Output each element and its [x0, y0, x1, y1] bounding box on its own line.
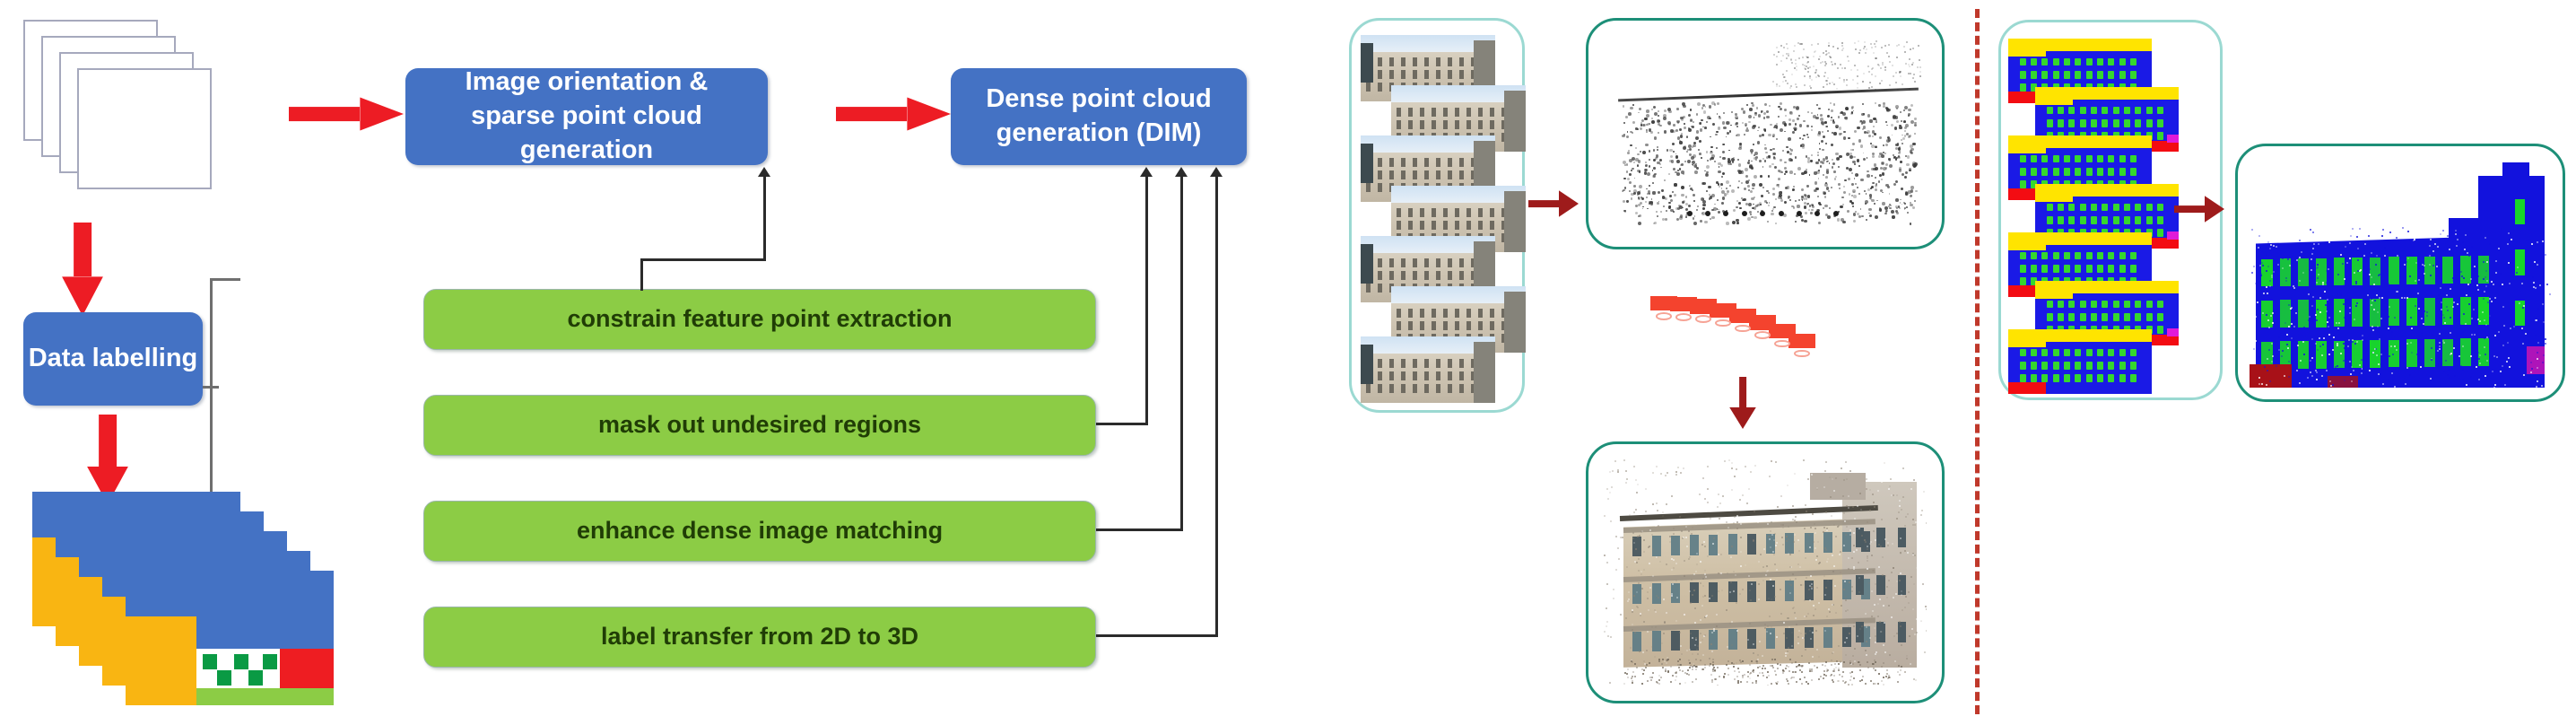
cloud-point: [1788, 196, 1791, 199]
cloud-point: [1634, 178, 1636, 179]
cloud-point: [1692, 681, 1693, 683]
cloud-point: [2380, 318, 2382, 319]
cloud-point: [1908, 602, 1910, 604]
cloud-point: [2415, 262, 2417, 264]
cloud-point: [2460, 365, 2462, 367]
cloud-point: [1921, 510, 1923, 511]
cloud-point: [1729, 505, 1731, 507]
cloud-point: [1638, 197, 1640, 198]
cloud-point: [1738, 202, 1741, 205]
cloud-point: [1889, 485, 1891, 487]
cloud-point: [2288, 304, 2290, 306]
cloud-point: [2325, 304, 2327, 306]
cloud-point: [2258, 356, 2260, 358]
cloud-point: [2253, 266, 2255, 267]
cloud-point: [1706, 121, 1708, 123]
cloud-point: [1774, 166, 1777, 169]
cloud-point: [1869, 119, 1872, 122]
cloud-point: [2264, 366, 2266, 368]
process-sfm-box[interactable]: Image orientation & sparse point cloud g…: [405, 68, 768, 165]
cloud-point: [1806, 66, 1807, 67]
cloud-point: [1625, 470, 1627, 472]
cloud-point: [1805, 504, 1806, 506]
cloud-point: [1882, 556, 1884, 558]
mask-class-window: [2124, 107, 2130, 115]
cloud-point: [2356, 302, 2358, 304]
cloud-point: [1645, 488, 1647, 490]
cloud-point: [2371, 276, 2372, 278]
photo-dark-edge: [1361, 144, 1373, 183]
cloud-point: [1768, 175, 1771, 178]
cloud-point: [1656, 502, 1658, 504]
mask-class-window: [2130, 374, 2137, 382]
cloud-point: [1815, 50, 1816, 52]
cloud-point: [2338, 245, 2340, 247]
cloud-point: [2263, 293, 2265, 294]
cloud-point: [1858, 193, 1860, 195]
cloud-point: [1872, 155, 1875, 158]
cloud-point: [1802, 57, 1804, 58]
cloud-point: [1747, 639, 1749, 641]
cloud-point: [1816, 667, 1818, 668]
cloud-point: [1776, 56, 1778, 57]
class-region-window: [234, 654, 248, 669]
cloud-point: [1857, 159, 1859, 162]
cloud-point: [1661, 189, 1663, 191]
cloud-point: [1753, 540, 1754, 542]
cloud-point: [1815, 71, 1817, 73]
cloud-point: [2287, 258, 2289, 260]
cloud-point: [2468, 303, 2470, 305]
cloud-point: [1638, 215, 1640, 217]
cloud-point: [1784, 109, 1787, 111]
cloud-point: [1866, 48, 1867, 50]
cloud-point: [2485, 375, 2486, 377]
cloud-point: [1867, 568, 1868, 570]
cloud-point: [1824, 665, 1826, 667]
cloud-point: [2407, 231, 2409, 232]
cloud-point: [1644, 169, 1647, 171]
cloud-point: [1902, 173, 1904, 176]
cloud-point: [2486, 360, 2488, 362]
cloud-window: [1652, 631, 1661, 651]
cloud-point: [2337, 365, 2338, 367]
cloud-point: [1726, 222, 1729, 225]
cloud-point: [2511, 349, 2513, 351]
cloud-point: [1679, 669, 1681, 671]
cloud-point: [1830, 102, 1832, 104]
cloud-point: [2424, 273, 2425, 275]
mask-class-window: [2108, 265, 2114, 273]
cloud-point: [1902, 137, 1905, 140]
cloud-point: [1685, 196, 1688, 198]
cloud-point: [1776, 636, 1778, 638]
cloud-point: [1652, 503, 1654, 505]
option-label-transfer-2d-3d[interactable]: label transfer from 2D to 3D: [423, 607, 1096, 668]
cloud-point: [1632, 104, 1634, 106]
mask-class-window: [2097, 155, 2103, 163]
cloud-point: [1679, 659, 1681, 660]
cloud-point: [1841, 67, 1843, 69]
cloud-point: [2452, 277, 2454, 279]
cloud-point: [2292, 386, 2293, 388]
cloud-point: [1817, 74, 1819, 76]
cloud-point: [1803, 135, 1805, 136]
cloud-point: [2439, 333, 2441, 335]
cloud-point: [2345, 246, 2346, 248]
cloud-point: [2496, 356, 2498, 358]
cloud-point: [2468, 255, 2470, 257]
cloud-point: [1639, 185, 1642, 188]
cloud-point: [1843, 186, 1845, 188]
cloud-point: [1845, 117, 1849, 120]
cloud-point: [1796, 473, 1797, 475]
cloud-point: [1878, 544, 1880, 546]
cloud-point: [2337, 293, 2338, 295]
cloud-point: [2361, 359, 2363, 361]
cloud-point: [1819, 143, 1821, 144]
frustum-lens: [1794, 350, 1810, 358]
cloud-point: [1780, 45, 1782, 47]
cloud-point: [1926, 608, 1927, 610]
cloud-point: [1866, 488, 1867, 490]
cloud-point: [2322, 282, 2324, 284]
cloud-point: [2485, 354, 2486, 355]
cloud-point: [1749, 108, 1753, 111]
cloud-point: [1822, 149, 1824, 152]
process-dim-box[interactable]: Dense point cloud generation (DIM): [951, 68, 1247, 165]
cloud-point: [1910, 48, 1911, 50]
cloud-point: [2278, 336, 2280, 338]
cloud-point: [2462, 241, 2464, 243]
cloud-point: [1834, 178, 1837, 180]
mask-class-window: [2119, 252, 2126, 260]
cloud-point: [1833, 103, 1836, 106]
mask-class-window: [2053, 362, 2059, 370]
cloud-point: [1780, 128, 1783, 132]
cloud-point: [1771, 210, 1774, 213]
cloud-point: [2525, 231, 2527, 232]
cloud-point: [1777, 506, 1779, 508]
cloud-point: [2369, 268, 2371, 270]
cloud-point: [1902, 135, 1903, 136]
cloud-point: [1745, 175, 1748, 178]
mask-class-window: [2031, 362, 2037, 370]
cloud-point: [1750, 477, 1752, 479]
cloud-point: [2479, 320, 2481, 322]
cloud-point: [2462, 369, 2464, 371]
cloud-point: [2349, 361, 2351, 362]
cloud-point: [1647, 598, 1649, 599]
cloud-point: [2440, 287, 2441, 289]
cloud-point: [1883, 644, 1884, 646]
cloud-point: [1818, 202, 1821, 205]
cloud-point: [2349, 312, 2351, 314]
cloud-point: [1794, 612, 1796, 614]
cloud-point: [1897, 671, 1899, 673]
cloud-point: [2321, 354, 2323, 356]
cloud-point: [1852, 79, 1854, 81]
cloud-point: [2288, 361, 2290, 362]
cloud-point: [1751, 197, 1754, 201]
cloud-point: [2546, 311, 2548, 313]
photo-stack-panel: [1349, 18, 1525, 413]
cloud-point: [1853, 566, 1855, 568]
cloud-point: [1831, 61, 1832, 63]
cloud-point: [1749, 673, 1751, 675]
cloud-point: [2389, 306, 2390, 308]
cloud-point: [1687, 149, 1689, 151]
cloud-point: [1881, 680, 1883, 682]
cloud-point: [2402, 227, 2404, 229]
cloud-point: [1738, 180, 1740, 182]
cloud-point: [1734, 670, 1736, 672]
cloud-point: [2410, 317, 2412, 319]
cloud-point: [1786, 536, 1788, 537]
cloud-point: [2463, 277, 2465, 279]
cloud-point: [1922, 583, 1924, 585]
cloud-point: [1623, 178, 1626, 180]
cloud-point: [1871, 555, 1873, 556]
mask-class-window: [2157, 313, 2163, 321]
cloud-point: [2458, 227, 2459, 229]
cloud-point: [1906, 41, 1908, 43]
cloud-point: [1640, 127, 1642, 130]
cloud-point: [2485, 270, 2487, 272]
cloud-point: [1714, 204, 1716, 205]
cloud-point: [1843, 79, 1845, 81]
cloud-point: [2426, 249, 2428, 250]
cloud-point: [1706, 151, 1708, 153]
connector-segment: [640, 258, 766, 261]
cloud-point: [1883, 662, 1884, 664]
cloud-point: [1684, 560, 1685, 562]
cloud-point: [1693, 217, 1695, 220]
cloud-point: [1689, 148, 1693, 152]
cloud-point: [1787, 48, 1788, 49]
cloud-point: [1799, 678, 1801, 680]
cloud-point: [1886, 125, 1888, 127]
cloud-point: [1831, 515, 1832, 517]
cloud-point: [1786, 43, 1788, 45]
cloud-point: [1642, 673, 1644, 675]
cloud-point: [2363, 266, 2365, 268]
cloud-point: [1711, 595, 1713, 597]
cloud-point: [2375, 264, 2377, 266]
cloud-point: [2275, 359, 2276, 361]
cloud-point: [1736, 602, 1737, 604]
cloud-point: [1846, 108, 1849, 110]
cloud-point: [2477, 289, 2479, 291]
cloud-point: [1626, 170, 1629, 173]
cloud-point: [1879, 621, 1881, 623]
cloud-point: [1683, 146, 1686, 150]
mask-class-other: [2167, 135, 2179, 143]
cloud-point: [2272, 326, 2274, 328]
cloud-point: [2329, 277, 2331, 279]
cloud-point: [1614, 500, 1616, 502]
cloud-point: [2538, 283, 2540, 284]
mask-class-window: [2146, 216, 2153, 224]
option-mask-undesired-regions[interactable]: mask out undesired regions: [423, 395, 1096, 456]
cloud-point: [1617, 471, 1619, 473]
cloud-point: [2479, 234, 2481, 236]
cloud-point: [2419, 343, 2421, 345]
cloud-point: [2317, 349, 2319, 351]
cloud-point: [1779, 85, 1780, 87]
mask-class-window: [2124, 119, 2130, 127]
cloud-point: [2293, 315, 2295, 317]
cloud-point: [1646, 461, 1648, 463]
cloud-point: [2493, 284, 2494, 285]
cloud-point: [1681, 194, 1684, 197]
cloud-point: [1711, 651, 1713, 652]
cloud-point: [1668, 202, 1671, 205]
cloud-point: [2364, 243, 2366, 245]
cloud-point: [1748, 499, 1750, 501]
cloud-point: [2344, 326, 2345, 328]
cloud-point: [1614, 460, 1616, 462]
cloud-point: [1634, 676, 1636, 677]
process-data-labelling-box[interactable]: Data labelling: [23, 312, 203, 406]
photo-window-row: [1366, 384, 1490, 393]
cloud-point: [1815, 559, 1817, 561]
mask-class-window: [2146, 119, 2153, 127]
cloud-point: [1825, 126, 1827, 127]
cloud-point: [2507, 267, 2509, 269]
cloud-point: [1728, 150, 1730, 152]
cloud-point: [1839, 188, 1841, 189]
cloud-point: [1658, 597, 1659, 598]
option-constrain-feature-extraction[interactable]: constrain feature point extraction: [423, 289, 1096, 350]
cloud-point: [1880, 67, 1882, 69]
mask-class-window: [2146, 204, 2153, 212]
cloud-point: [1835, 125, 1839, 128]
cloud-point: [1685, 490, 1687, 492]
cloud-point: [1859, 680, 1861, 682]
cloud-point: [2277, 252, 2279, 254]
cloud-point: [1696, 113, 1699, 116]
cloud-point: [1912, 206, 1915, 209]
cloud-point: [1806, 169, 1807, 170]
cloud-point: [1662, 515, 1664, 517]
cloud-point: [2318, 243, 2319, 245]
cloud-point: [2421, 318, 2423, 319]
cloud-point: [1881, 179, 1883, 180]
cloud-point: [1789, 554, 1791, 555]
mask-class-window: [2157, 229, 2163, 237]
cloud-point: [1843, 191, 1846, 194]
cloud-point: [1900, 111, 1902, 113]
cloud-point: [2545, 343, 2546, 345]
cloud-point: [1766, 571, 1768, 572]
mask-class-window: [2080, 119, 2086, 127]
cloud-point: [1875, 57, 1876, 59]
cloud-point: [1688, 144, 1692, 148]
cloud-point: [1691, 156, 1694, 160]
cloud-point: [1879, 208, 1883, 212]
cloud-point: [1912, 143, 1916, 146]
connector-segment: [763, 176, 766, 260]
option-label: enhance dense image matching: [577, 515, 943, 546]
cloud-point: [1884, 66, 1886, 68]
mask-class-window: [2108, 374, 2114, 382]
cloud-point: [1872, 663, 1874, 665]
cloud-point: [2429, 264, 2431, 266]
cloud-class-window: [2424, 257, 2435, 284]
cloud-point: [1666, 503, 1667, 505]
cloud-point: [2333, 328, 2335, 330]
cloud-point: [2421, 332, 2423, 334]
cloud-point: [2340, 254, 2342, 256]
cloud-point: [1755, 159, 1757, 161]
cloud-point: [1759, 641, 1761, 642]
cloud-point: [1871, 86, 1873, 88]
cloud-point: [2296, 370, 2298, 371]
process-sfm-label: Image orientation & sparse point cloud g…: [422, 66, 752, 167]
cloud-point: [1788, 137, 1791, 141]
connector-segment: [1180, 176, 1183, 531]
cloud-point: [2426, 315, 2428, 317]
cloud-point: [1844, 581, 1846, 582]
cloud-point: [1795, 221, 1797, 223]
cloud-point: [1688, 205, 1691, 207]
cloud-point: [1823, 135, 1825, 138]
cloud-point: [1789, 153, 1792, 155]
cloud-point: [1857, 87, 1858, 89]
cloud-point: [2439, 345, 2441, 347]
cloud-point: [1733, 666, 1735, 668]
cloud-point: [2531, 368, 2533, 370]
cloud-point: [2536, 386, 2537, 388]
cloud-point: [1801, 671, 1803, 673]
cloud-point: [1674, 461, 1675, 463]
cloud-point: [2507, 283, 2509, 284]
cloud-point: [2326, 310, 2328, 312]
cloud-point: [1700, 128, 1703, 132]
cloud-window: [1747, 534, 1756, 555]
option-enhance-dense-matching[interactable]: enhance dense image matching: [423, 501, 1096, 562]
cloud-class-window: [2389, 257, 2399, 284]
cloud-point: [1874, 163, 1877, 167]
cloud-point: [1891, 616, 1893, 618]
cloud-point: [2452, 254, 2454, 256]
cloud-point: [1832, 121, 1835, 124]
cloud-point: [1718, 211, 1720, 214]
cloud-point: [2295, 312, 2297, 314]
cloud-point: [2344, 317, 2345, 319]
cloud-point: [1675, 171, 1676, 173]
cloud-point: [1624, 494, 1626, 495]
cloud-point: [1748, 121, 1750, 123]
cloud-point: [1736, 222, 1739, 224]
cloud-point: [1668, 123, 1671, 126]
cloud-point: [2355, 286, 2357, 288]
cloud-point: [1632, 671, 1634, 673]
cloud-point: [1893, 494, 1894, 496]
cloud-point: [1786, 57, 1788, 59]
cloud-point: [2278, 235, 2280, 237]
mask-class-window: [2130, 349, 2137, 357]
mask-class-ground: [2008, 382, 2046, 394]
cloud-point: [1876, 200, 1878, 202]
cloud-point: [1795, 123, 1797, 126]
cloud-point: [2276, 246, 2277, 248]
cloud-point: [1885, 121, 1887, 123]
cloud-point: [2330, 385, 2332, 387]
mask-class-window: [2135, 301, 2141, 309]
cloud-point: [1612, 499, 1614, 501]
